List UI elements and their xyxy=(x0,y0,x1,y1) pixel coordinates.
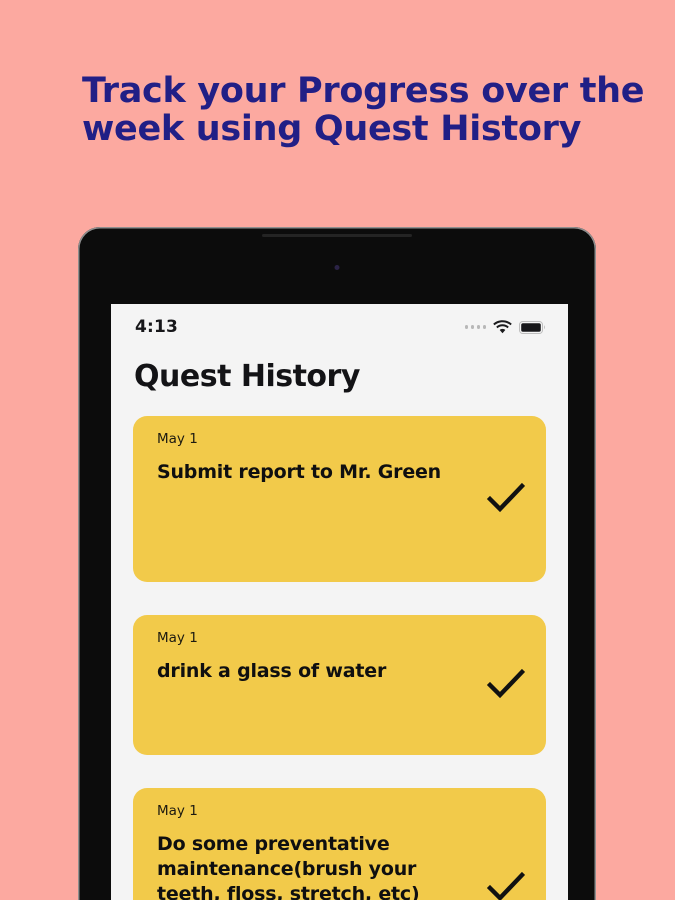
quest-card[interactable]: May 1 Submit report to Mr. Green xyxy=(133,416,546,582)
status-bar-time: 4:13 xyxy=(135,317,178,337)
headline-line-2: week using Quest History xyxy=(82,110,642,148)
front-camera-icon xyxy=(335,265,340,270)
quest-title: Submit report to Mr. Green xyxy=(157,460,474,485)
quest-card[interactable]: May 1 Do some preventative maintenance(b… xyxy=(133,788,546,900)
check-icon xyxy=(487,872,525,900)
check-icon xyxy=(487,669,525,699)
quest-date: May 1 xyxy=(157,803,474,819)
quest-complete-toggle[interactable] xyxy=(484,872,528,900)
promo-stage: Track your Progress over the week using … xyxy=(0,0,675,900)
quest-date: May 1 xyxy=(157,630,474,646)
quest-card-body: May 1 Do some preventative maintenance(b… xyxy=(157,803,484,900)
quest-card-body: May 1 Submit report to Mr. Green xyxy=(157,431,484,485)
quest-card[interactable]: May 1 drink a glass of water xyxy=(133,615,546,755)
quest-complete-toggle[interactable] xyxy=(484,483,528,513)
headline-line-1: Track your Progress over the xyxy=(82,72,642,110)
quest-title: drink a glass of water xyxy=(157,659,474,684)
battery-icon xyxy=(519,321,546,334)
status-bar-indicators xyxy=(465,320,547,334)
check-icon xyxy=(487,483,525,513)
quest-card-body: May 1 drink a glass of water xyxy=(157,630,484,684)
status-bar: 4:13 xyxy=(111,304,568,350)
page-title: Quest History xyxy=(134,360,568,394)
tablet-device-frame: 4:13 xyxy=(78,227,596,900)
signal-dots-icon xyxy=(465,325,487,329)
quest-complete-toggle[interactable] xyxy=(484,669,528,699)
promo-headline: Track your Progress over the week using … xyxy=(82,72,642,148)
quest-date: May 1 xyxy=(157,431,474,447)
quest-history-list: May 1 Submit report to Mr. Green May 1 d… xyxy=(111,416,568,900)
quest-title: Do some preventative maintenance(brush y… xyxy=(157,832,474,900)
app-screen: 4:13 xyxy=(111,304,568,900)
device-speaker xyxy=(262,234,412,237)
wifi-icon xyxy=(493,320,512,334)
